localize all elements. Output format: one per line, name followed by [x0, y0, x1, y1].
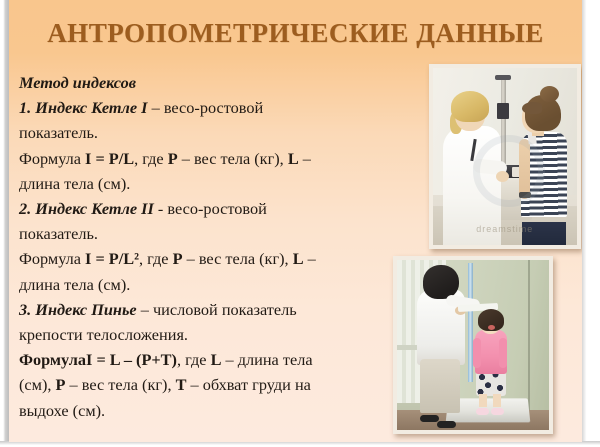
slide-frame-right: [582, 0, 600, 447]
segment-bold: ФормулаI = L – (P+T): [19, 350, 177, 369]
child-shin-left: [479, 394, 487, 407]
content-body: Метод индексов 1. Индекс Кетле I – весо-…: [19, 70, 399, 423]
text-line-index-2-formula: Формула I = P/L², где P – вес тела (кг),…: [19, 246, 399, 271]
nurse-shoe-right: [437, 421, 456, 428]
page-title: АНТРОПОМЕТРИЧЕСКИЕ ДАННЫЕ: [9, 18, 582, 49]
text-line-index-3-formula: ФормулаI = L – (P+T), где L – длина тела: [19, 347, 399, 372]
segment-normal: – вес тела (кг),: [178, 149, 288, 168]
nurse-shoe-left: [420, 415, 439, 422]
segment-normal: –: [299, 149, 311, 168]
segment-normal: , где: [177, 350, 211, 369]
photo-adult-weighing: dreamstime: [429, 64, 581, 249]
segment-normal: – вес тела (кг),: [183, 249, 293, 268]
segment-normal: - весо-ростовой: [154, 199, 267, 218]
text-line-index-3-title-cont: крепости телосложения.: [19, 322, 399, 347]
child-shin-right: [493, 394, 501, 407]
text-line-index-2-formula-cont: длина тела (см).: [19, 272, 399, 297]
photo-child-height-measure: [393, 256, 553, 434]
child-shoe-left: [476, 408, 489, 415]
segment-normal: – весо-ростовой: [148, 98, 264, 117]
segment-normal: Формула: [19, 249, 85, 268]
segment-normal: , где: [139, 249, 173, 268]
segment-normal: длина тела (см).: [19, 275, 130, 294]
segment-normal: – обхват груди на: [186, 375, 310, 394]
text-line-index-1-title-cont: показатель.: [19, 120, 399, 145]
child-mouth: [488, 325, 495, 330]
slide-frame-left: [0, 0, 9, 447]
segment-normal: Формула: [19, 149, 85, 168]
content-heading-label: Метод индексов: [19, 73, 136, 92]
patient-fringe: [522, 102, 542, 114]
segment-normal: длина тела (см).: [19, 174, 130, 193]
segment-normal: показатель.: [19, 224, 98, 243]
patient-hair-bun: [540, 86, 559, 102]
text-line-index-1-formula-cont: длина тела (см).: [19, 171, 399, 196]
segment-bold: I = P/L: [85, 149, 134, 168]
text-line-index-3-title: 3. Индекс Пинье – числовой показатель: [19, 297, 399, 322]
segment-bold: L: [288, 149, 299, 168]
photo-adult-weighing-inner: dreamstime: [433, 68, 577, 245]
text-line-index-1-title: 1. Индекс Кетле I – весо-ростовой: [19, 95, 399, 120]
segment-bold: L: [293, 249, 304, 268]
slide-canvas: АНТРОПОМЕТРИЧЕСКИЕ ДАННЫЕ Метод индексов…: [9, 0, 582, 442]
photo-child-height-measure-inner: [397, 260, 549, 430]
segment-bold: P: [173, 249, 183, 268]
segment-normal: – длина тела: [221, 350, 312, 369]
segment-normal: (см),: [19, 375, 56, 394]
segment-bold: T: [176, 375, 187, 394]
photo-watermark-text: dreamstime: [476, 224, 533, 234]
text-line-index-2-title: 2. Индекс Кетле II - весо-ростовой: [19, 196, 399, 221]
child-arm-right: [499, 338, 507, 368]
child-shoe-right: [491, 408, 504, 415]
segment-bold-italic: 2. Индекс Кетле II: [19, 199, 154, 218]
segment-normal: – вес тела (кг),: [65, 375, 175, 394]
nurse-dark-hair: [423, 265, 459, 299]
segment-normal: показатель.: [19, 123, 98, 142]
segment-bold: I = P/L²: [85, 249, 139, 268]
content-heading: Метод индексов: [19, 70, 399, 95]
stadiometer-slider: [497, 103, 509, 119]
title-band: АНТРОПОМЕТРИЧЕСКИЕ ДАННЫЕ: [9, 0, 582, 62]
segment-bold: P: [168, 149, 178, 168]
segment-bold-italic: 1. Индекс Кетле I: [19, 98, 148, 117]
nurse-trousers: [420, 359, 460, 413]
child-arm-left: [473, 338, 481, 368]
segment-bold: P: [56, 375, 66, 394]
text-line-index-3-formula-cont2: выдохе (см).: [19, 398, 399, 423]
text-line-index-2-title-cont: показатель.: [19, 221, 399, 246]
photo-door-edge: [528, 260, 530, 413]
segment-bold: L: [211, 350, 222, 369]
segment-bold-italic: 3. Индекс Пинье: [19, 300, 137, 319]
segment-normal: крепости телосложения.: [19, 325, 188, 344]
slide: АНТРОПОМЕТРИЧЕСКИЕ ДАННЫЕ Метод индексов…: [0, 0, 600, 447]
nurse-hair: [451, 91, 489, 122]
text-line-index-3-formula-cont1: (см), P – вес тела (кг), T – обхват груд…: [19, 372, 399, 397]
segment-normal: – числовой показатель: [137, 300, 297, 319]
text-line-index-1-formula: Формула I = P/L, где P – вес тела (кг), …: [19, 146, 399, 171]
stadiometer-top-bracket: [495, 75, 511, 80]
segment-normal: , где: [134, 149, 168, 168]
segment-normal: –: [304, 249, 316, 268]
segment-normal: выдохе (см).: [19, 401, 105, 420]
